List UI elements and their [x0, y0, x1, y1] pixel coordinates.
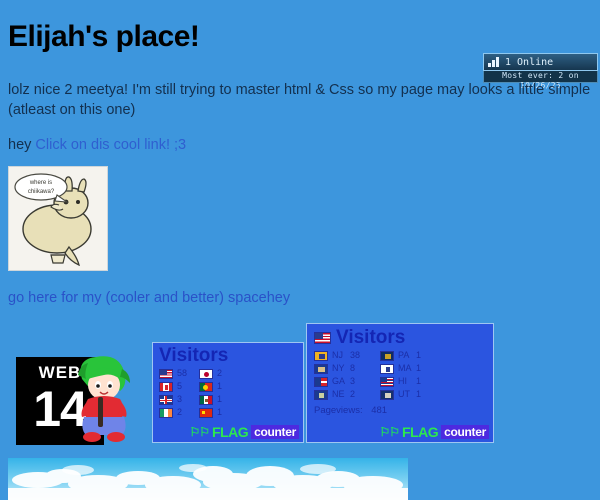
hi-flag-icon: [380, 377, 394, 387]
visitors-title-text: Visitors: [159, 346, 228, 366]
state-label: GA: [332, 376, 346, 387]
flag-counter-large[interactable]: Visitors NJ 38 NY 8 GA 3 NE 2: [306, 323, 494, 443]
flag-row: 1: [199, 394, 229, 405]
intro-paragraph: lolz nice 2 meetya! I'm still trying to …: [8, 80, 596, 120]
ny-flag-icon: [314, 364, 328, 374]
footer-counter-word: counter: [251, 425, 299, 439]
state-label: PA: [398, 350, 412, 361]
pt-flag-icon: [199, 382, 213, 392]
cool-link[interactable]: Click on dis cool link! ;3: [35, 137, 186, 153]
flag-counter-small-footer[interactable]: ⚐⚐ FLAG counter: [189, 424, 299, 440]
state-count: 1: [416, 350, 428, 361]
state-row: NE 2: [314, 389, 362, 400]
flag-counter-large-right-column: PA 1 MA 1 HI 1 UT 1: [380, 350, 428, 400]
flagcounter-logo-icon: ⚐⚐: [189, 425, 209, 439]
flag-counter-small[interactable]: Visitors 58 5 3 2 2: [152, 342, 304, 443]
flag-counter-large-title: Visitors: [307, 324, 493, 350]
cn-flag-icon: [199, 408, 213, 418]
state-label: UT: [398, 389, 412, 400]
doodle-svg: where is chiikawa?: [9, 167, 107, 270]
state-row: MA 1: [380, 363, 428, 374]
mx-flag-icon: [199, 395, 213, 405]
flag-counter-small-title: Visitors: [153, 343, 303, 368]
flag-counter-small-right-column: 2 1 1 1: [199, 368, 229, 418]
flag-counter-small-left-column: 58 5 3 2: [159, 368, 189, 418]
flag-row: 58: [159, 368, 189, 379]
state-row: NY 8: [314, 363, 362, 374]
flag-row: 5: [159, 381, 189, 392]
doodle-speech-line1: where is: [29, 180, 52, 186]
state-label: HI: [398, 376, 412, 387]
visitors-title-text: Visitors: [336, 328, 405, 348]
online-counter-top[interactable]: 1 Online: [483, 53, 598, 71]
flag-counter-large-left-column: NJ 38 NY 8 GA 3 NE 2: [314, 350, 362, 400]
sky-banner-image: [8, 458, 408, 500]
state-count: 1: [416, 389, 428, 400]
ga-flag-icon: [314, 377, 328, 387]
pageviews-line: Pageviews: 481: [307, 400, 493, 416]
flag-row: 1: [199, 407, 229, 418]
hey-line: hey Click on dis cool link! ;3: [8, 135, 186, 155]
flag-count: 3: [177, 394, 189, 405]
chiikawa-doodle-image: where is chiikawa?: [8, 166, 108, 271]
flag-count: 1: [217, 394, 229, 405]
state-label: MA: [398, 363, 412, 374]
pa-flag-icon: [380, 351, 394, 361]
ca-flag-icon: [159, 382, 173, 392]
signal-bars-icon: [488, 57, 500, 67]
flag-row: 3: [159, 394, 189, 405]
ne-flag-icon: [314, 390, 328, 400]
footer-flag-word: FLAG: [402, 424, 438, 440]
state-label: NY: [332, 363, 346, 374]
flag-counter-large-columns: NJ 38 NY 8 GA 3 NE 2 PA 1: [307, 350, 493, 400]
state-count: 3: [350, 376, 362, 387]
state-row: HI 1: [380, 376, 428, 387]
online-counter-widget[interactable]: 1 Online Most ever: 2 on 10/26/25: [483, 53, 598, 83]
ut-flag-icon: [380, 390, 394, 400]
page-title: Elijah's place!: [8, 20, 199, 54]
anime-character-sticker: [68, 353, 136, 445]
us-flag-icon: [314, 332, 331, 344]
flag-count: 5: [177, 381, 189, 392]
state-count: 1: [416, 363, 428, 374]
web-14-badge-group: WEB 14: [16, 357, 136, 445]
pageviews-value: 481: [371, 405, 387, 416]
flag-count: 2: [217, 368, 229, 379]
state-row: NJ 38: [314, 350, 362, 361]
state-count: 1: [416, 376, 428, 387]
state-count: 2: [350, 389, 362, 400]
state-label: NE: [332, 389, 346, 400]
sky-banner-svg: [8, 458, 408, 500]
ma-flag-icon: [380, 364, 394, 374]
state-count: 8: [350, 363, 362, 374]
ie-flag-icon: [159, 408, 173, 418]
flag-row: 2: [159, 407, 189, 418]
footer-flag-word: FLAG: [212, 424, 248, 440]
flag-row: 2: [199, 368, 229, 379]
doodle-speech-line2: chiikawa?: [28, 189, 55, 195]
spacehey-link[interactable]: go here for my (cooler and better) space…: [8, 290, 290, 306]
footer-counter-word: counter: [441, 425, 489, 439]
state-count: 38: [350, 350, 362, 361]
state-row: UT 1: [380, 389, 428, 400]
pageviews-label: Pageviews:: [314, 405, 363, 416]
state-label: NJ: [332, 350, 346, 361]
state-row: GA 3: [314, 376, 362, 387]
flag-count: 1: [217, 381, 229, 392]
flagcounter-logo-icon: ⚐⚐: [379, 425, 399, 439]
flag-counter-large-footer[interactable]: ⚐⚐ FLAG counter: [379, 424, 489, 440]
gb-flag-icon: [159, 395, 173, 405]
flag-count: 58: [177, 368, 189, 379]
state-row: PA 1: [380, 350, 428, 361]
flag-count: 2: [177, 407, 189, 418]
flag-counter-small-columns: 58 5 3 2 2 1: [153, 368, 303, 418]
jp-flag-icon: [199, 369, 213, 379]
hey-prefix-text: hey: [8, 137, 35, 153]
online-count-label: 1 Online: [505, 57, 553, 68]
us-flag-icon: [159, 369, 173, 379]
flag-row: 1: [199, 381, 229, 392]
nj-flag-icon: [314, 351, 328, 361]
flag-count: 1: [217, 407, 229, 418]
